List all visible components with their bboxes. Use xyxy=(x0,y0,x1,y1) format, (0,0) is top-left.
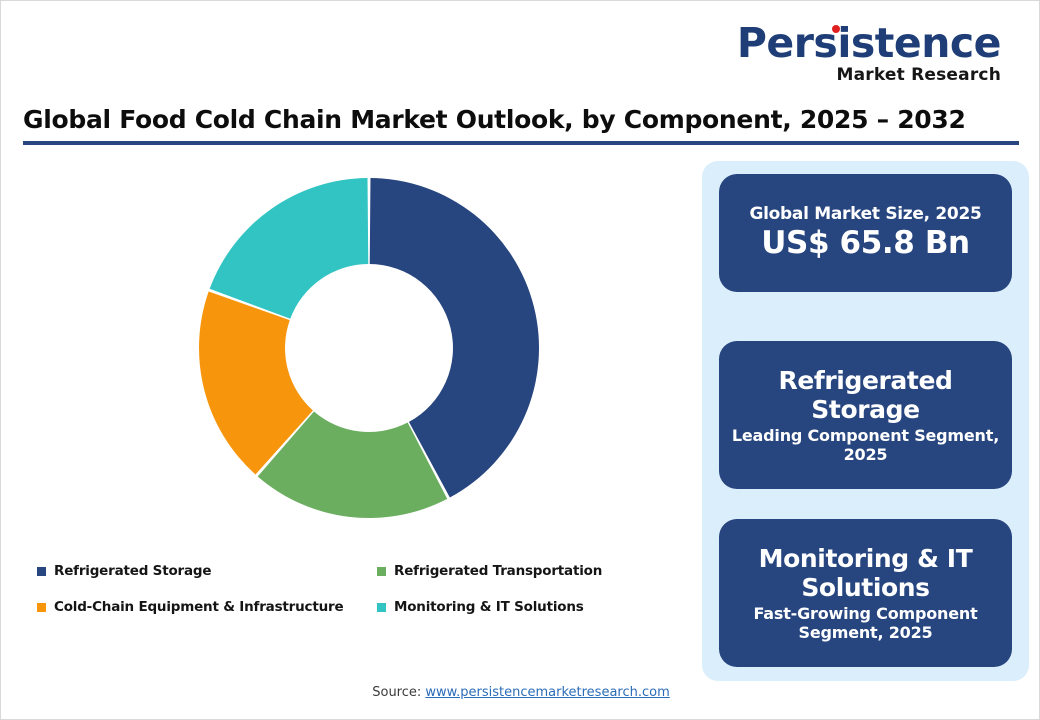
donut-slice-3[interactable] xyxy=(210,178,369,319)
legend-item-refrigerated-transportation[interactable]: Refrigerated Transportation xyxy=(377,563,677,579)
market-size-value: US$ 65.8 Bn xyxy=(761,226,969,262)
legend-label-1: Refrigerated Transportation xyxy=(394,563,602,579)
logo-accent-dot-icon xyxy=(832,25,840,33)
source-prefix: Source: xyxy=(372,685,425,700)
fast-growing-segment-name: Monitoring & IT Solutions xyxy=(719,544,1012,602)
legend-swatch-icon-1 xyxy=(377,567,386,576)
title-underline-rule xyxy=(23,141,1019,145)
legend-item-refrigerated-storage[interactable]: Refrigerated Storage xyxy=(37,563,377,579)
leading-segment-caption: Leading Component Segment, 2025 xyxy=(719,426,1012,464)
logo-brand-label: Persistence xyxy=(737,19,1001,67)
page-title-block: Global Food Cold Chain Market Outlook, b… xyxy=(23,105,1019,145)
chart-legend: Refrigerated Storage Refrigerated Transp… xyxy=(37,553,677,625)
legend-label-0: Refrigerated Storage xyxy=(54,563,211,579)
legend-swatch-icon-3 xyxy=(377,603,386,612)
legend-label-3: Monitoring & IT Solutions xyxy=(394,599,584,615)
highlight-card-fast-growing-segment: Monitoring & IT Solutions Fast-Growing C… xyxy=(719,519,1012,667)
highlights-panel: Global Market Size, 2025 US$ 65.8 Bn Ref… xyxy=(702,161,1029,681)
highlight-card-leading-segment: Refrigerated Storage Leading Component S… xyxy=(719,341,1012,489)
donut-slice-group xyxy=(199,178,539,518)
company-logo: Persistence Market Research xyxy=(737,23,1001,84)
logo-subtitle: Market Research xyxy=(737,67,1001,84)
page-title: Global Food Cold Chain Market Outlook, b… xyxy=(23,105,1019,134)
infographic-canvas: Persistence Market Research Global Food … xyxy=(0,0,1040,720)
legend-item-cold-chain-equipment[interactable]: Cold-Chain Equipment & Infrastructure xyxy=(37,599,377,615)
legend-swatch-icon-0 xyxy=(37,567,46,576)
logo-brand-text: Persistence xyxy=(737,23,1001,64)
source-link[interactable]: www.persistencemarketresearch.com xyxy=(425,685,669,700)
leading-segment-name: Refrigerated Storage xyxy=(719,366,1012,424)
legend-item-monitoring-it-solutions[interactable]: Monitoring & IT Solutions xyxy=(377,599,677,615)
market-size-label: Global Market Size, 2025 xyxy=(749,204,981,224)
donut-chart xyxy=(15,156,685,556)
highlight-card-market-size: Global Market Size, 2025 US$ 65.8 Bn xyxy=(719,174,1012,292)
source-line: Source: www.persistencemarketresearch.co… xyxy=(1,685,1040,700)
fast-growing-segment-caption: Fast-Growing Component Segment, 2025 xyxy=(719,604,1012,642)
legend-swatch-icon-2 xyxy=(37,603,46,612)
donut-chart-svg xyxy=(15,156,685,556)
legend-label-2: Cold-Chain Equipment & Infrastructure xyxy=(54,599,343,615)
